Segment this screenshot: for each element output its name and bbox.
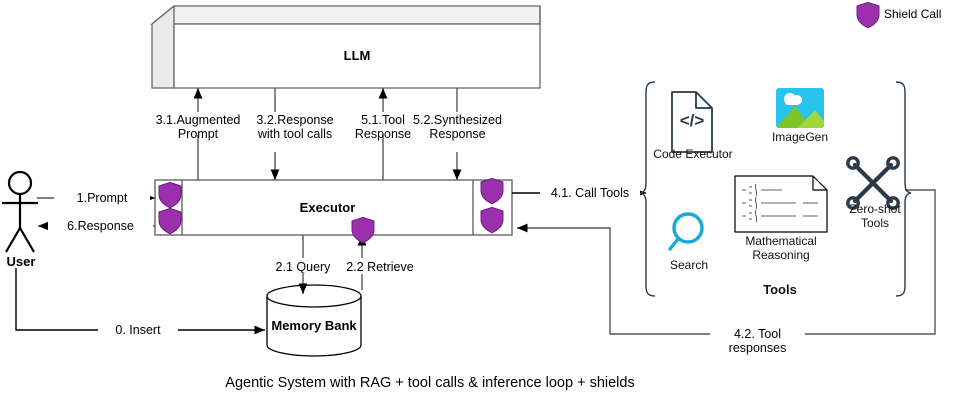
flow-label-tool-responses: 4.2. Tool responses [710, 327, 805, 355]
user-label: User [0, 255, 42, 269]
image-icon[interactable] [776, 88, 830, 128]
llm-node[interactable] [152, 6, 540, 88]
flow-label-synthesized-response: 5.2.Synthesized Response [400, 113, 515, 141]
tools-group-label: Tools [730, 283, 830, 297]
crossed-wrenches-icon[interactable] [848, 158, 898, 208]
diagram-caption: Agentic System with RAG + tool calls & i… [0, 375, 860, 391]
diagram-canvas: LLM Executor Memory Bank User 3.1.Augmen… [0, 0, 970, 411]
llm-label: LLM [174, 48, 540, 63]
flow-label-prompt: 1.Prompt [54, 191, 150, 205]
memory-bank-label: Memory Bank [267, 318, 361, 333]
user-icon [2, 172, 38, 252]
tool-label-code-executor: Code Executor [648, 147, 738, 161]
magnifying-glass-icon[interactable] [670, 214, 702, 249]
flow-insert [16, 268, 265, 330]
flow-label-retrieve: 2.2 Retrieve [330, 260, 430, 274]
flow-label-response: 6.Response [48, 219, 153, 233]
tool-label-search: Search [655, 258, 723, 272]
flow-label-call-tools: 4.1. Call Tools [540, 186, 640, 200]
formula-document-icon[interactable] [735, 176, 827, 232]
tool-label-mathematical-reasoning: Mathematical Reasoning [732, 234, 830, 262]
executor-label: Executor [182, 200, 473, 215]
flow-label-insert: 0. Insert [98, 323, 178, 337]
code-glyph: </> [672, 111, 712, 131]
legend-label: Shield Call [884, 7, 970, 21]
tool-label-zero-shot-tools: Zero-shot Tools [838, 202, 912, 230]
tool-label-imagegen: ImageGen [762, 130, 838, 144]
